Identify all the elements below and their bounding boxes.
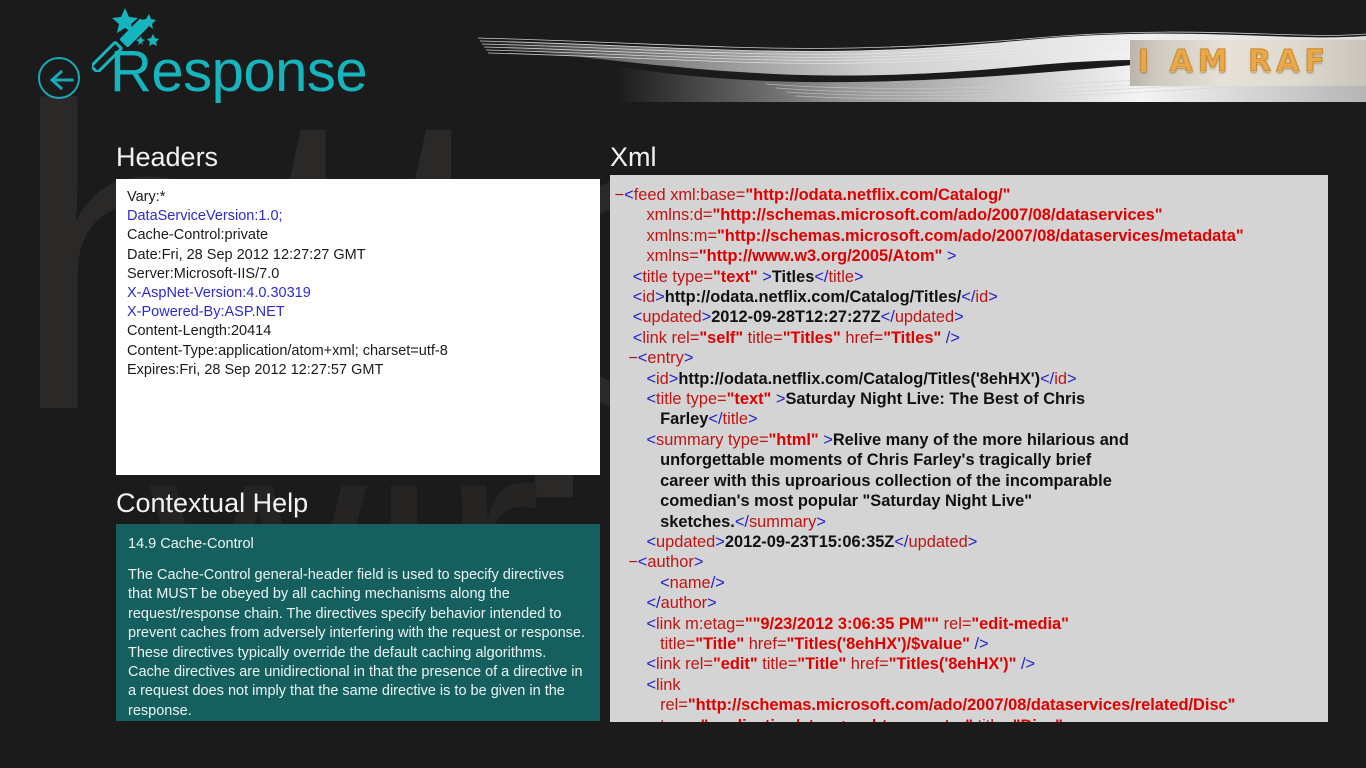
xml-token: type= xyxy=(728,431,769,449)
xml-line: <updated>2012-09-28T12:27:27Z</updated> xyxy=(610,307,1328,327)
xml-token: "text" xyxy=(727,390,772,408)
xml-token: /> xyxy=(970,635,989,653)
xml-line: xmlns="http://www.w3.org/2005/Atom" > xyxy=(610,246,1328,266)
xml-token: > xyxy=(954,308,964,326)
xml-token: < xyxy=(638,349,648,367)
xml-indent xyxy=(610,594,646,612)
xml-collapse-toggle-icon[interactable]: − xyxy=(610,186,624,204)
xml-token: id xyxy=(642,288,655,306)
xml-token: type= xyxy=(660,717,701,722)
xml-indent xyxy=(610,513,660,531)
banner-photo-text: I AM RAF xyxy=(1138,44,1330,79)
xml-token: </ xyxy=(814,268,828,286)
xml-token: updated xyxy=(895,308,954,326)
xml-token: < xyxy=(646,676,656,694)
xml-token: "http://odata.netflix.com/Catalog/" xyxy=(745,186,1010,204)
xml-line: Farley</title> xyxy=(610,409,1328,429)
xml-token: < xyxy=(633,268,643,286)
headers-list: Vary:*DataServiceVersion:1.0;Cache-Contr… xyxy=(116,179,600,380)
help-title: 14.9 Cache-Control xyxy=(116,524,600,552)
xml-token: < xyxy=(660,574,670,592)
xml-code-view: −<feed xml:base="http://odata.netflix.co… xyxy=(610,175,1328,722)
xml-token: "Disc" xyxy=(1013,717,1063,722)
xml-token: xmlns:d= xyxy=(646,206,712,224)
xml-token: </ xyxy=(881,308,895,326)
back-arrow-icon xyxy=(48,68,74,92)
xml-indent xyxy=(610,676,646,694)
xml-token: "edit" xyxy=(713,655,758,673)
xml-token: summary xyxy=(749,513,816,531)
back-button[interactable] xyxy=(38,57,80,99)
xml-token: updated xyxy=(656,533,715,551)
xml-token: link xyxy=(656,676,681,694)
header-line: Vary:* xyxy=(127,188,600,207)
xml-token: < xyxy=(633,308,643,326)
header-line: Content-Length:20414 xyxy=(127,322,600,341)
xml-token: > xyxy=(1067,370,1077,388)
xml-token: href= xyxy=(846,655,888,673)
xml-token: id xyxy=(975,288,988,306)
header-line[interactable]: DataServiceVersion:1.0; xyxy=(127,207,600,226)
xml-token: > xyxy=(655,288,665,306)
banner-photo: I AM RAF xyxy=(1130,40,1366,86)
xml-token: /> xyxy=(941,329,960,347)
xml-token: rel= xyxy=(939,615,971,633)
xml-token: title= xyxy=(973,717,1013,722)
xml-line: <link rel="edit" title="Title" href="Tit… xyxy=(610,654,1328,674)
xml-indent xyxy=(610,247,646,265)
xml-line: −<author> xyxy=(610,552,1328,572)
xml-token: </ xyxy=(1040,370,1054,388)
xml-token: </ xyxy=(708,410,722,428)
xml-token: id xyxy=(1054,370,1067,388)
xml-token: id xyxy=(656,370,669,388)
xml-line: <id>http://odata.netflix.com/Catalog/Tit… xyxy=(610,369,1328,389)
xml-token: /> xyxy=(1016,655,1035,673)
xml-indent xyxy=(610,451,660,469)
xml-token: title xyxy=(642,268,672,286)
xml-indent xyxy=(610,533,646,551)
xml-indent xyxy=(610,615,646,633)
xml-token: title xyxy=(723,410,749,428)
xml-token: comedian's most popular "Saturday Night … xyxy=(660,492,1032,510)
xml-token: career with this uproarious collection o… xyxy=(660,472,1112,490)
xml-token: "Title" xyxy=(695,635,744,653)
xml-line: −<feed xml:base="http://odata.netflix.co… xyxy=(610,185,1328,205)
xml-token: "http://schemas.microsoft.com/ado/2007/0… xyxy=(688,696,1236,714)
xml-token: type= xyxy=(672,268,713,286)
xml-line: <updated>2012-09-23T15:06:35Z</updated> xyxy=(610,532,1328,552)
xml-indent xyxy=(610,431,646,449)
decorative-banner: I AM RAF xyxy=(466,0,1366,102)
xml-token: updated xyxy=(642,308,701,326)
xml-line: <title type="text" >Titles</title> xyxy=(610,267,1328,287)
xml-token: < xyxy=(624,186,634,204)
xml-token: title= xyxy=(660,635,695,653)
xml-token: xmlns= xyxy=(646,247,698,265)
xml-token: Saturday Night Live: The Best of Chris xyxy=(785,390,1085,408)
xml-line: <link m:etag=""9/23/2012 3:06:35 PM"" re… xyxy=(610,614,1328,634)
xml-token: feed xyxy=(634,186,670,204)
xml-token: > xyxy=(715,533,725,551)
header-line: Expires:Fri, 28 Sep 2012 12:27:57 GMT xyxy=(127,361,600,380)
xml-token: title= xyxy=(743,329,783,347)
xml-collapse-toggle-icon[interactable]: − xyxy=(610,553,638,571)
xml-line: unforgettable moments of Chris Farley's … xyxy=(610,450,1328,470)
xml-indent xyxy=(610,329,633,347)
xml-token: type= xyxy=(686,390,727,408)
xml-token: < xyxy=(638,553,648,571)
xml-line: comedian's most popular "Saturday Night … xyxy=(610,491,1328,511)
header-line: Date:Fri, 28 Sep 2012 12:27:27 GMT xyxy=(127,246,600,265)
xml-token: xmlns:m= xyxy=(646,227,717,245)
xml-indent xyxy=(610,410,660,428)
xml-token: title xyxy=(656,390,686,408)
xml-token: > xyxy=(694,553,704,571)
xml-token: summary xyxy=(656,431,728,449)
xml-token: > xyxy=(707,594,717,612)
xml-indent xyxy=(610,472,660,490)
xml-token: title= xyxy=(758,655,798,673)
xml-token: "Titles('8ehHX')/$value" xyxy=(787,635,970,653)
xml-indent xyxy=(610,308,633,326)
xml-token: link xyxy=(642,329,671,347)
xml-line: sketches.</summary> xyxy=(610,512,1328,532)
xml-token: xml:base= xyxy=(670,186,745,204)
xml-token: < xyxy=(633,329,643,347)
xml-token: < xyxy=(646,431,656,449)
xml-token: > xyxy=(819,431,833,449)
xml-token: > xyxy=(968,533,978,551)
xml-token: "Title" xyxy=(797,655,846,673)
xml-token: name xyxy=(670,574,711,592)
xml-indent xyxy=(610,655,646,673)
xml-indent xyxy=(610,268,633,286)
xml-token: > xyxy=(758,268,772,286)
xml-indent xyxy=(610,492,660,510)
help-body: The Cache-Control general-header field i… xyxy=(116,552,600,721)
xml-token: "http://schemas.microsoft.com/ado/2007/0… xyxy=(712,206,1162,224)
xml-line: career with this uproarious collection o… xyxy=(610,471,1328,491)
xml-token: http://odata.netflix.com/Catalog/Titles(… xyxy=(678,370,1040,388)
xml-indent xyxy=(610,574,660,592)
header-line: Content-Type:application/atom+xml; chars… xyxy=(127,342,600,361)
xml-token: "text" xyxy=(713,268,758,286)
xml-indent xyxy=(610,288,633,306)
xml-line: <title type="text" >Saturday Night Live:… xyxy=(610,389,1328,409)
xml-line: <link xyxy=(610,675,1328,695)
xml-indent xyxy=(610,370,646,388)
xml-token: updated xyxy=(908,533,967,551)
xml-line: title="Title" href="Titles('8ehHX')/$val… xyxy=(610,634,1328,654)
xml-collapse-toggle-icon[interactable]: − xyxy=(610,349,638,367)
xml-token: href= xyxy=(841,329,883,347)
xml-line: rel="http://schemas.microsoft.com/ado/20… xyxy=(610,695,1328,715)
xml-indent xyxy=(610,390,646,408)
xml-token: < xyxy=(646,533,656,551)
header-line: Cache-Control:private xyxy=(127,226,600,245)
contextual-help-section-label: Contextual Help xyxy=(116,488,308,519)
xml-token: > xyxy=(771,390,785,408)
xml-token: </ xyxy=(646,594,660,612)
xml-token: http://odata.netflix.com/Catalog/Titles/ xyxy=(665,288,962,306)
xml-token: > xyxy=(702,308,712,326)
xml-token: title xyxy=(828,268,854,286)
xml-indent xyxy=(610,717,660,722)
xml-token: rel= xyxy=(660,696,688,714)
xml-token: > xyxy=(854,268,864,286)
xml-token: < xyxy=(646,655,656,673)
xml-indent xyxy=(610,227,646,245)
xml-token: link xyxy=(656,655,685,673)
xml-token: < xyxy=(646,615,656,633)
xml-token: ""9/23/2012 3:06:35 PM"" xyxy=(745,615,939,633)
header-line[interactable]: X-Powered-By:ASP.NET xyxy=(127,303,600,322)
xml-panel[interactable]: −<feed xml:base="http://odata.netflix.co… xyxy=(610,175,1328,722)
xml-line: xmlns:m="http://schemas.microsoft.com/ad… xyxy=(610,226,1328,246)
header-line: Server:Microsoft-IIS/7.0 xyxy=(127,265,600,284)
xml-token: </ xyxy=(735,513,749,531)
xml-token: "Titles" xyxy=(783,329,841,347)
xml-indent xyxy=(610,635,660,653)
contextual-help-panel[interactable]: 14.9 Cache-Control The Cache-Control gen… xyxy=(116,524,600,721)
headers-section-label: Headers xyxy=(116,142,218,173)
xml-token: href= xyxy=(744,635,786,653)
xml-token: Farley xyxy=(660,410,708,428)
xml-token: author xyxy=(647,553,693,571)
xml-line: xmlns:d="http://schemas.microsoft.com/ad… xyxy=(610,205,1328,225)
xml-token: "Titles('8ehHX')" xyxy=(889,655,1017,673)
xml-token: "self" xyxy=(699,329,743,347)
xml-token: rel= xyxy=(685,655,713,673)
page-title: Response xyxy=(110,38,367,105)
xml-token: sketches. xyxy=(660,513,735,531)
xml-token: "html" xyxy=(769,431,819,449)
xml-token: < xyxy=(633,288,643,306)
xml-token: Relive many of the more hilarious and xyxy=(833,431,1129,449)
xml-line: <name/> xyxy=(610,573,1328,593)
xml-token: > xyxy=(942,247,956,265)
xml-line: <link rel="self" title="Titles" href="Ti… xyxy=(610,328,1328,348)
xml-line: </author> xyxy=(610,593,1328,613)
xml-indent xyxy=(610,206,646,224)
xml-token: > xyxy=(816,513,826,531)
headers-panel[interactable]: Vary:*DataServiceVersion:1.0;Cache-Contr… xyxy=(116,179,600,475)
xml-token: m:etag= xyxy=(685,615,745,633)
xml-line: −<entry> xyxy=(610,348,1328,368)
xml-token: </ xyxy=(961,288,975,306)
xml-indent xyxy=(610,696,660,714)
xml-token: "edit-media" xyxy=(971,615,1069,633)
xml-token: unforgettable moments of Chris Farley's … xyxy=(660,451,1091,469)
xml-token: "http://www.w3.org/2005/Atom" xyxy=(699,247,943,265)
xml-token: > xyxy=(988,288,998,306)
xml-token: > xyxy=(748,410,758,428)
header-line[interactable]: X-AspNet-Version:4.0.30319 xyxy=(127,284,600,303)
xml-token: author xyxy=(661,594,707,612)
xml-line: <summary type="html" >Relive many of the… xyxy=(610,430,1328,450)
xml-section-label: Xml xyxy=(610,142,657,173)
xml-token: entry xyxy=(647,349,683,367)
xml-token: "application/atom+xml;type=entry" xyxy=(701,717,973,722)
xml-token: link xyxy=(656,615,685,633)
xml-token: < xyxy=(646,390,656,408)
xml-token: > xyxy=(669,370,679,388)
xml-token: Titles xyxy=(772,268,815,286)
xml-token: < xyxy=(646,370,656,388)
app-root: http wir xyxy=(0,0,1366,768)
xml-token: 2012-09-28T12:27:27Z xyxy=(711,308,880,326)
xml-token: </ xyxy=(894,533,908,551)
xml-token: 2012-09-23T15:06:35Z xyxy=(725,533,894,551)
xml-token: rel= xyxy=(672,329,700,347)
xml-token: > xyxy=(684,349,694,367)
xml-token: "Titles" xyxy=(883,329,941,347)
xml-token: /> xyxy=(711,574,725,592)
xml-line: type="application/atom+xml;type=entry" t… xyxy=(610,716,1328,722)
xml-token: "http://schemas.microsoft.com/ado/2007/0… xyxy=(717,227,1244,245)
xml-line: <id>http://odata.netflix.com/Catalog/Tit… xyxy=(610,287,1328,307)
